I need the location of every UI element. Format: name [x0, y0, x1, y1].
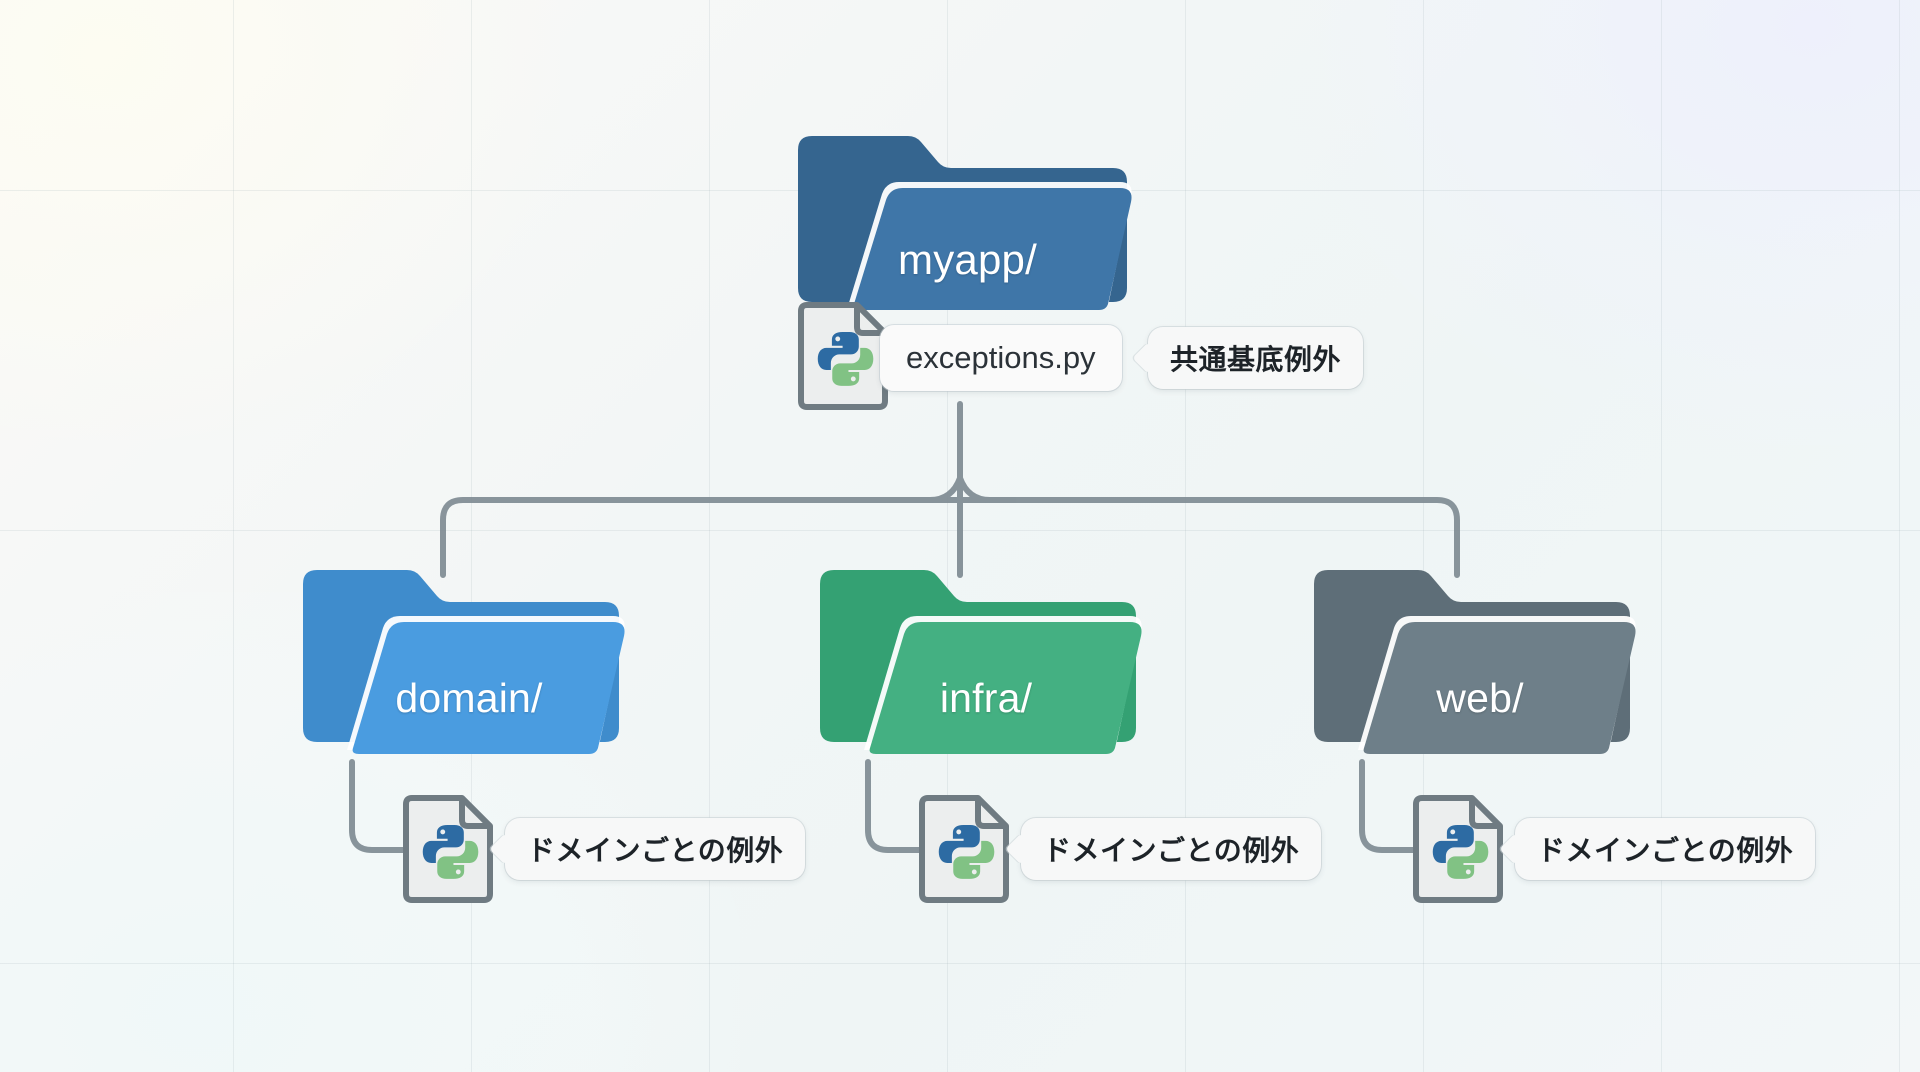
- folder-shape: [790, 128, 1135, 318]
- python-file-icon-root[interactable]: [795, 300, 891, 412]
- python-file-icon-infra[interactable]: [916, 793, 1012, 905]
- annotation-badge-web: ドメインごとの例外: [1515, 818, 1815, 880]
- folder-shape: [295, 562, 635, 762]
- connector-infra-file: [868, 762, 921, 850]
- annotation-badge-root: 共通基底例外: [1148, 327, 1363, 389]
- connector-domain-file: [352, 762, 405, 850]
- folder-node-infra[interactable]: infra/: [812, 562, 1152, 762]
- folder-node-domain[interactable]: domain/: [295, 562, 635, 762]
- python-file-icon-web[interactable]: [1410, 793, 1506, 905]
- folder-node-web[interactable]: web/: [1306, 562, 1646, 762]
- annotation-badge-text: 共通基底例外: [1170, 338, 1341, 378]
- folder-shape: [812, 562, 1152, 762]
- python-file-icon-domain[interactable]: [400, 793, 496, 905]
- annotation-badge-domain: ドメインごとの例外: [505, 818, 805, 880]
- connector-web-file: [1362, 762, 1415, 850]
- background-tint-top-left: [0, 0, 560, 440]
- python-file-icon: [1410, 793, 1506, 905]
- background-tint-top-right: [1280, 0, 1920, 460]
- connector-fillet-right: [960, 478, 990, 500]
- annotation-badge-text: ドメインごとの例外: [1537, 829, 1793, 869]
- annotation-badge-text: ドメインごとの例外: [527, 829, 783, 869]
- folder-node-myapp[interactable]: myapp/: [790, 128, 1135, 318]
- python-file-icon: [795, 300, 891, 412]
- folder-shape: [1306, 562, 1646, 762]
- file-chip-label: exceptions.py: [906, 340, 1096, 376]
- annotation-badge-text: ドメインごとの例外: [1043, 829, 1299, 869]
- diagram-canvas: myapp/ exceptions.py 共通基底例外 domain/: [0, 0, 1920, 1072]
- connector-fillet-left: [930, 478, 960, 500]
- python-file-icon: [400, 793, 496, 905]
- file-chip-exceptions[interactable]: exceptions.py: [880, 325, 1122, 391]
- annotation-badge-infra: ドメインごとの例外: [1021, 818, 1321, 880]
- python-file-icon: [916, 793, 1012, 905]
